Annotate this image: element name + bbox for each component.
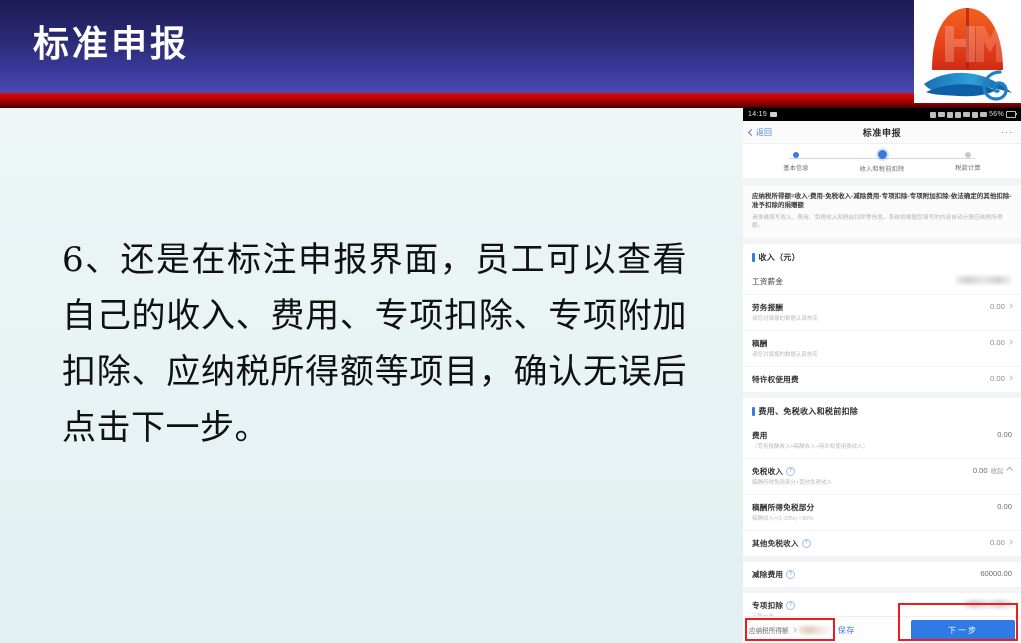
row-label: 特许权使用费 xyxy=(752,374,984,385)
row-label: 免税收入 ? xyxy=(752,466,967,477)
row-value: 0.00 xyxy=(990,338,1005,347)
section-title: 收入（元） xyxy=(759,252,801,263)
status-time: 14:15 xyxy=(748,111,767,118)
table-row[interactable]: 免税收入 ? 稿酬所得免税部分+其他免税收入 0.00 收起 xyxy=(743,458,1021,494)
slide-title-bar: 标准申报 xyxy=(0,0,1021,93)
save-button[interactable]: 保存 xyxy=(838,625,855,636)
row-sub-text: （劳务报酬收入+稿酬收入+特许权使用费收入） xyxy=(752,444,991,451)
row-sub-text: 稿酬所得免税部分+其他免税收入 xyxy=(752,480,967,487)
slide-root: 标准申报 xyxy=(0,0,1021,643)
row-value: 0.00 xyxy=(990,374,1005,383)
formula-sub-text: 请准确填写收入、费用、免税收入和税前扣除等信息。系统将根据您填写的内容自动计算应… xyxy=(752,214,1012,230)
row-label: 劳务报酬 xyxy=(752,302,984,313)
help-icon[interactable]: ? xyxy=(786,601,795,610)
row-label-text: 其他免税收入 xyxy=(752,538,799,549)
section-header-fee-exempt: 费用、免税收入和税前扣除 xyxy=(743,398,1021,423)
row-value: 0.00 xyxy=(990,538,1005,547)
mute-icon xyxy=(947,112,953,118)
row-value: 0.00 xyxy=(997,430,1012,439)
table-row[interactable]: 减除费用 ? 60000.00 xyxy=(743,562,1021,587)
message-icon xyxy=(770,112,777,117)
page-title: 标准申报 xyxy=(33,20,189,68)
step-dot-todo xyxy=(965,152,971,158)
chevron-right-icon xyxy=(1007,340,1013,346)
row-label-text: 减除费用 xyxy=(752,569,783,580)
taxable-income-summary[interactable]: 应纳税所得额 xyxy=(749,625,829,635)
signal2-icon xyxy=(980,112,987,117)
row-label: 工资薪金 xyxy=(752,276,950,287)
formula-block: 应纳税所得额=收入-费用-免税收入-减除费用-专项扣除-专项附加扣除-依法确定的… xyxy=(743,184,1021,238)
step-basic-info[interactable]: 基本信息 xyxy=(765,152,827,173)
row-label: 稿酬所得免税部分 xyxy=(752,502,991,513)
section-header-income: 收入（元） xyxy=(743,244,1021,269)
alarm-icon xyxy=(938,112,945,117)
section-title: 费用、免税收入和税前扣除 xyxy=(759,406,859,417)
chevron-left-icon xyxy=(748,128,755,135)
status-left: 14:15 xyxy=(748,111,777,118)
step-dot-active xyxy=(878,150,887,159)
next-step-button[interactable]: 下一步 xyxy=(911,620,1015,641)
help-icon[interactable]: ? xyxy=(786,570,795,579)
row-value: 60000.00 xyxy=(980,569,1012,578)
chevron-right-icon xyxy=(1007,304,1013,310)
row-label: 其他免税收入 ? xyxy=(752,538,984,549)
row-label-text: 专项扣除 xyxy=(752,600,783,611)
table-row[interactable]: 稿酬所得免税部分 稿酬收入×(1-20%) ×30% 0.00 xyxy=(743,494,1021,530)
row-sub-text: 请您对填报的数据认真核实 xyxy=(752,352,984,359)
collapse-label[interactable]: 收起 xyxy=(991,466,1004,475)
row-sub-text: 请您对填报的数据认真核实 xyxy=(752,316,984,323)
chevron-right-icon xyxy=(791,627,797,633)
vibrate-icon xyxy=(955,112,961,118)
phone-nav-bar: 返回 标准申报 ··· xyxy=(743,121,1021,144)
table-row[interactable]: 劳务报酬 请您对填报的数据认真核实 0.00 xyxy=(743,294,1021,330)
wifi-icon xyxy=(963,112,970,117)
more-menu-icon[interactable]: ··· xyxy=(1001,127,1013,137)
row-label: 专项扣除 ? xyxy=(752,600,958,611)
blurred-value xyxy=(956,276,1012,284)
row-label: 费用 xyxy=(752,430,991,441)
hm-wave-logo-icon xyxy=(914,0,1021,103)
row-sub-text: 稿酬收入×(1-20%) ×30% xyxy=(752,516,991,523)
help-icon[interactable]: ? xyxy=(786,467,795,476)
step-label: 税款计算 xyxy=(937,163,999,172)
taxable-income-label: 应纳税所得额 xyxy=(749,625,789,635)
back-label: 返回 xyxy=(756,127,772,138)
camera-icon xyxy=(930,112,936,118)
red-divider-bar xyxy=(0,93,1021,108)
step-tax-calculation[interactable]: 税款计算 xyxy=(937,152,999,173)
step-label: 基本信息 xyxy=(765,163,827,172)
section-accent-bar xyxy=(752,253,755,262)
blurred-taxable-value xyxy=(799,626,829,634)
table-row[interactable]: 其他免税收入 ? 0.00 xyxy=(743,530,1021,556)
step-label: 收入和税前扣除 xyxy=(851,164,913,173)
row-label-text: 免税收入 xyxy=(752,466,783,477)
row-value: 0.00 xyxy=(997,502,1012,511)
formula-main-text: 应纳税所得额=收入-费用-免税收入-减除费用-专项扣除-专项附加扣除-依法确定的… xyxy=(752,192,1012,210)
section-accent-bar xyxy=(752,407,755,416)
back-button[interactable]: 返回 xyxy=(749,127,772,138)
phone-screenshot: 14:15 56% 返回 标准申报 ··· xyxy=(743,108,1021,643)
table-row[interactable]: 特许权使用费 0.00 xyxy=(743,366,1021,392)
status-right: 56% xyxy=(930,111,1016,118)
phone-status-bar: 14:15 56% xyxy=(743,108,1021,121)
phone-bottom-bar: 应纳税所得额 保存 下一步 xyxy=(743,616,1021,643)
chevron-up-icon[interactable] xyxy=(1006,467,1012,473)
help-icon[interactable]: ? xyxy=(802,539,811,548)
step-dot xyxy=(793,152,799,158)
slide-body-text: 6、还是在标注申报界面，员工可以查看自己的收入、费用、专项扣除、专项附加扣除、应… xyxy=(62,232,687,456)
phone-nav-title: 标准申报 xyxy=(743,126,1021,139)
company-logo xyxy=(914,0,1021,103)
row-value: 0.00 xyxy=(973,466,988,475)
blurred-value xyxy=(964,600,1012,608)
step-indicator: 基本信息 收入和税前扣除 税款计算 xyxy=(743,144,1021,178)
row-label: 稿酬 xyxy=(752,338,984,349)
row-value: 0.00 xyxy=(990,302,1005,311)
table-row[interactable]: 工资薪金 xyxy=(743,269,1021,294)
table-row[interactable]: 稿酬 请您对填报的数据认真核实 0.00 xyxy=(743,330,1021,366)
battery-icon xyxy=(1006,111,1016,118)
step-income-deduction[interactable]: 收入和税前扣除 xyxy=(851,152,913,173)
chevron-right-icon xyxy=(1007,376,1013,382)
table-row[interactable]: 费用 （劳务报酬收入+稿酬收入+特许权使用费收入） 0.00 xyxy=(743,423,1021,458)
status-battery-percent: 56% xyxy=(989,111,1004,118)
row-label: 减除费用 ? xyxy=(752,569,974,580)
signal-icon xyxy=(972,112,978,118)
chevron-right-icon xyxy=(1007,540,1013,546)
